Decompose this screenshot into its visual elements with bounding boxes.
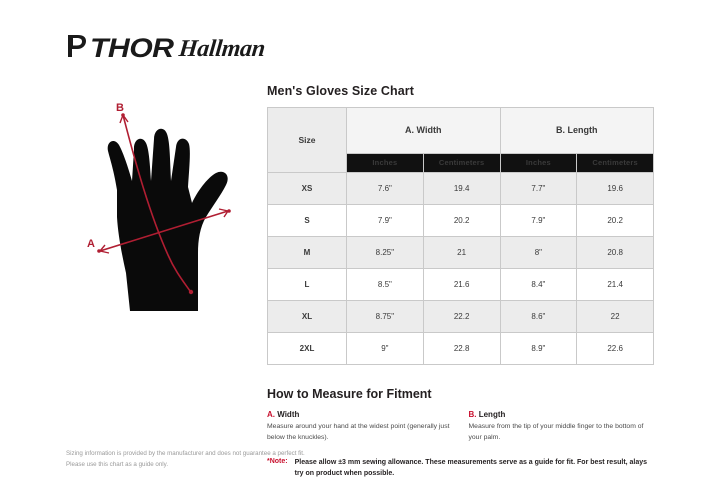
table-row: 2XL 9" 22.8 8.9" 22.6: [268, 333, 654, 365]
how-to-length-text: Measure from the tip of your middle fing…: [469, 422, 655, 443]
table-group-header-row: Size A. Width B. Length: [268, 108, 654, 154]
cell-length-cm: 20.2: [577, 205, 654, 237]
how-to-width-letter: A.: [267, 410, 275, 419]
column-header-length-centimeters: Centimeters: [577, 153, 654, 173]
cell-size: L: [268, 269, 347, 301]
size-chart-page: THOR Hallman A B Men's Gloves Size Chart: [0, 0, 720, 492]
column-header-size: Size: [268, 108, 347, 173]
cell-width-cm: 19.4: [423, 173, 500, 205]
cell-length-cm: 19.6: [577, 173, 654, 205]
cell-length-cm: 20.8: [577, 237, 654, 269]
cell-size: 2XL: [268, 333, 347, 365]
footer-line-2: Please use this chart as a guide only.: [66, 460, 396, 471]
cell-size: S: [268, 205, 347, 237]
how-to-length-block: B. Length Measure from the tip of your m…: [469, 410, 655, 443]
cell-size: XL: [268, 301, 347, 333]
cell-size: XS: [268, 173, 347, 205]
column-header-length-inches: Inches: [500, 153, 577, 173]
column-header-length: B. Length: [500, 108, 654, 154]
table-head: Size A. Width B. Length Inches Centimete…: [268, 108, 654, 173]
measure-label-b: B: [116, 103, 124, 114]
thor-wordmark: THOR: [90, 35, 173, 62]
cell-length-in: 8.4": [500, 269, 577, 301]
how-to-width-block: A. Width Measure around your hand at the…: [267, 410, 453, 443]
hallman-logo: Hallman: [177, 37, 265, 61]
how-to-measure-columns: A. Width Measure around your hand at the…: [267, 410, 654, 443]
column-header-width: A. Width: [347, 108, 501, 154]
chart-column: Men's Gloves Size Chart Size A. Width B.…: [267, 84, 654, 479]
how-to-width-heading: A. Width: [267, 410, 453, 419]
how-to-length-label: Length: [477, 410, 506, 419]
cell-width-cm: 20.2: [423, 205, 500, 237]
how-to-length-letter: B.: [469, 410, 477, 419]
brand-logo-group: THOR Hallman: [66, 33, 264, 64]
cell-length-cm: 22: [577, 301, 654, 333]
cell-length-in: 7.7": [500, 173, 577, 205]
glove-illustration: [70, 95, 265, 320]
table-body: XS 7.6" 19.4 7.7" 19.6 S 7.9" 20.2 7.9" …: [268, 173, 654, 365]
table-row: L 8.5" 21.6 8.4" 21.4: [268, 269, 654, 301]
cell-width-cm: 22.2: [423, 301, 500, 333]
cell-width-in: 8.75": [347, 301, 424, 333]
cell-length-in: 8.9": [500, 333, 577, 365]
table-row: XS 7.6" 19.4 7.7" 19.6: [268, 173, 654, 205]
cell-length-in: 8.6": [500, 301, 577, 333]
cell-width-cm: 21.6: [423, 269, 500, 301]
how-to-width-label: Width: [275, 410, 299, 419]
page-title: Men's Gloves Size Chart: [267, 84, 654, 98]
cell-length-cm: 21.4: [577, 269, 654, 301]
cell-width-cm: 22.8: [423, 333, 500, 365]
footer-disclaimer: Sizing information is provided by the ma…: [66, 449, 396, 471]
cell-length-cm: 22.6: [577, 333, 654, 365]
footer-line-1: Sizing information is provided by the ma…: [66, 449, 396, 460]
table-row: M 8.25" 21 8" 20.8: [268, 237, 654, 269]
cell-length-in: 7.9": [500, 205, 577, 237]
table-row: S 7.9" 20.2 7.9" 20.2: [268, 205, 654, 237]
thor-logo: THOR: [66, 33, 165, 64]
cell-length-in: 8": [500, 237, 577, 269]
table-row: XL 8.75" 22.2 8.6" 22: [268, 301, 654, 333]
column-header-width-centimeters: Centimeters: [423, 153, 500, 173]
cell-width-in: 7.9": [347, 205, 424, 237]
measure-label-a: A: [87, 239, 95, 250]
cell-width-in: 9": [347, 333, 424, 365]
cell-width-in: 8.5": [347, 269, 424, 301]
column-header-width-inches: Inches: [347, 153, 424, 173]
size-chart-table: Size A. Width B. Length Inches Centimete…: [267, 107, 654, 365]
cell-width-cm: 21: [423, 237, 500, 269]
thor-helmet-icon: [66, 33, 88, 64]
cell-width-in: 7.6": [347, 173, 424, 205]
how-to-length-heading: B. Length: [469, 410, 655, 419]
how-to-measure-title: How to Measure for Fitment: [267, 387, 654, 401]
cell-width-in: 8.25": [347, 237, 424, 269]
cell-size: M: [268, 237, 347, 269]
how-to-width-text: Measure around your hand at the widest p…: [267, 422, 453, 443]
